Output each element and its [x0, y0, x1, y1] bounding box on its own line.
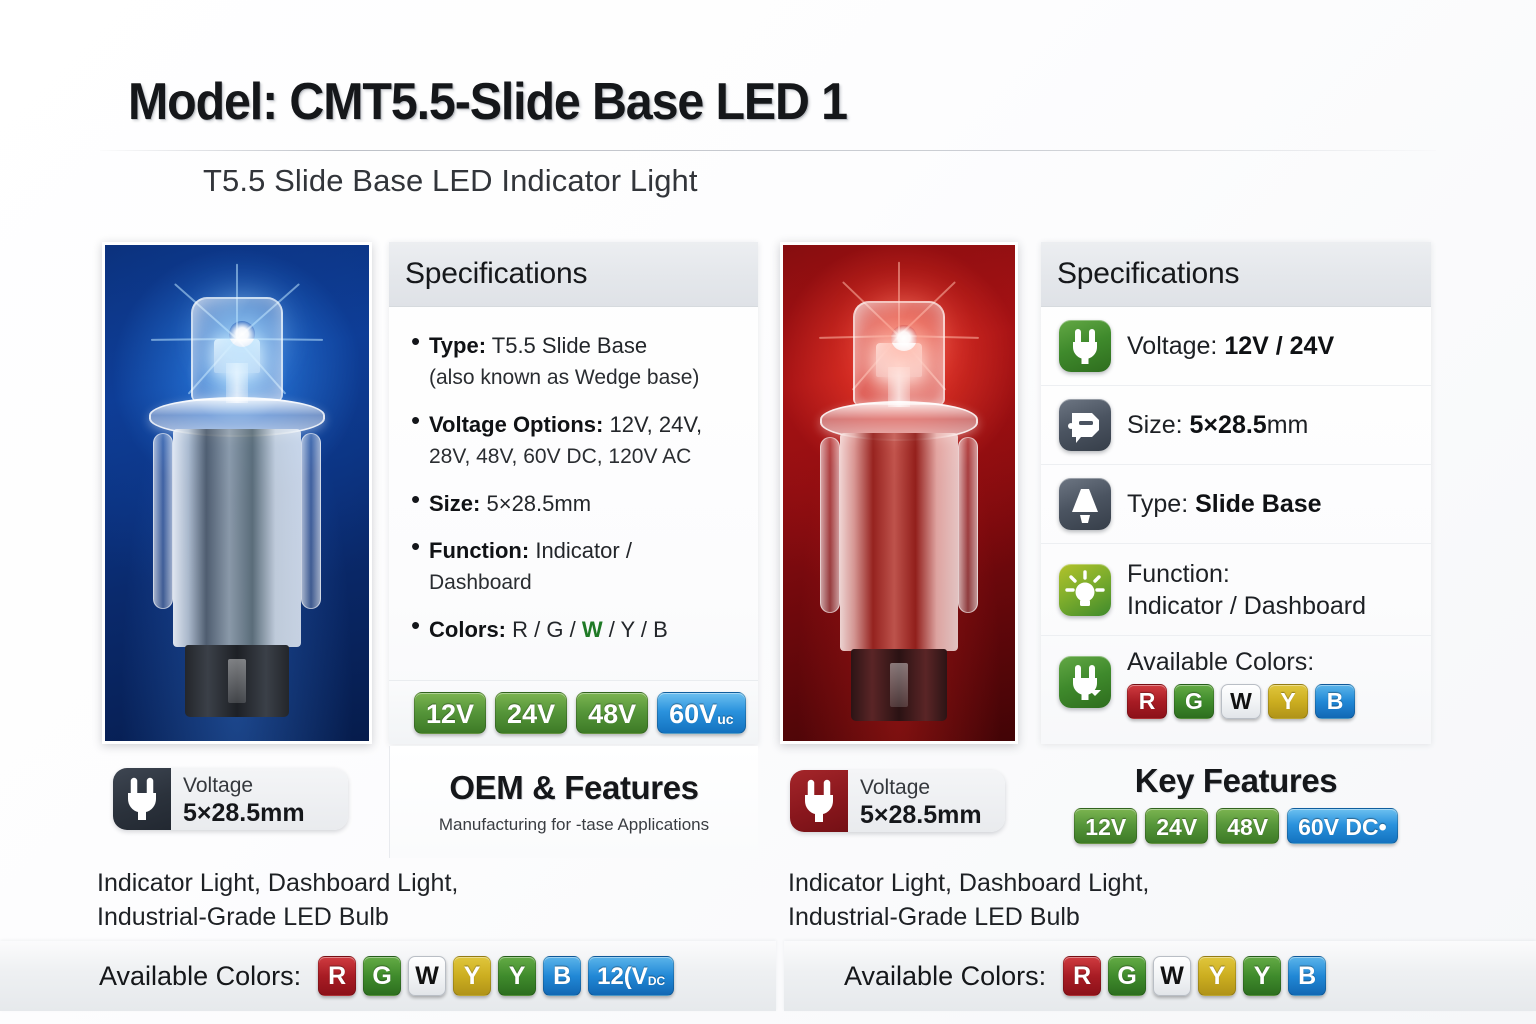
spec-row-type-label: Type:: [1127, 490, 1195, 518]
voltage-badge-60v-sub: uc: [717, 698, 733, 740]
bottom-voltage-badge-text: 12(V: [597, 957, 648, 997]
spec-row-type: Type: Slide Base: [1041, 465, 1431, 544]
color-chip-w-letter: W: [1230, 688, 1252, 715]
key-badge-48v[interactable]: 48V: [1216, 808, 1279, 844]
bottom-color-chip-w[interactable]: W: [408, 956, 446, 996]
bulb-dome: [853, 301, 945, 405]
key-badge-24v-text: 24V: [1156, 809, 1197, 845]
spec-colors-pre: R / G /: [512, 617, 582, 642]
bottom-voltage-badge-sub: DC: [648, 961, 665, 1001]
spec-row-size: Size: 5×28.5mm: [1041, 386, 1431, 465]
spec-subtext-function: Dashboard: [429, 567, 744, 599]
spec-value-voltage-options: 12V, 24V,: [610, 412, 703, 437]
spec-row-size-unit: mm: [1267, 411, 1309, 439]
left-voltage-badge-strip: 12V 24V 48V 60Vuc: [389, 680, 758, 744]
bottom-color-chip-b-letter: B: [1298, 962, 1316, 991]
right-caption-line2: Industrial-Grade LED Bulb: [788, 900, 1149, 934]
plug-icon: [113, 768, 171, 830]
bulb-assembly: [820, 301, 978, 721]
spec-bullet-type: Type: T5.5 Slide Base (also known as Wed…: [411, 329, 744, 394]
key-badge-24v[interactable]: 24V: [1145, 808, 1208, 844]
spec-label-voltage-options: Voltage Options:: [429, 412, 603, 437]
right-voltage-pill[interactable]: Voltage 5×28.5mm: [790, 770, 1005, 832]
right-spec-heading-text: Specifications: [1057, 257, 1239, 291]
lamp-icon: [1059, 478, 1111, 530]
spec-row-size-value: 5×28.5: [1190, 411, 1267, 439]
voltage-badge-24v[interactable]: 24V: [495, 692, 567, 734]
left-available-colors-bar: Available Colors: R G W Y Y B 12(VDC: [0, 941, 776, 1011]
bottom-color-chip-r[interactable]: R: [1063, 956, 1101, 996]
bottom-color-chip-r-letter: R: [328, 962, 346, 991]
key-badge-60v-dc[interactable]: 60V DC•: [1287, 808, 1398, 844]
bulb-body: [840, 433, 958, 651]
bottom-color-chip-g[interactable]: G: [1108, 956, 1146, 996]
spec-row-size-label: Size:: [1127, 411, 1190, 439]
spec-colors-highlight: W: [582, 617, 603, 642]
bottom-color-chip-r[interactable]: R: [318, 956, 356, 996]
size-tag-icon: [1059, 399, 1111, 451]
color-chip-w[interactable]: W: [1221, 684, 1261, 719]
voltage-badge-48v[interactable]: 48V: [576, 692, 648, 734]
bottom-color-chip-y-gold-letter: Y: [1209, 962, 1226, 991]
page-subtitle: T5.5 Slide Base LED Indicator Light: [203, 163, 698, 199]
spec-label-size: Size:: [429, 491, 480, 516]
bulb-rail-right: [301, 433, 321, 609]
spec-row-voltage-value: 12V / 24V: [1224, 332, 1334, 360]
left-spec-list: Type: T5.5 Slide Base (also known as Wed…: [389, 307, 758, 646]
available-colors-label: Available Colors:: [1127, 646, 1355, 678]
plug-icon: [790, 770, 848, 832]
spec-row-voltage: Voltage: 12V / 24V: [1041, 307, 1431, 386]
bulb-base-notch: [890, 663, 908, 707]
bulb-rail-left: [153, 433, 173, 609]
voltage-badge-60v-text: 60V: [669, 693, 717, 735]
spec-row-function: Function: Indicator / Dashboard: [1041, 544, 1431, 636]
bottom-voltage-badge[interactable]: 12(VDC: [588, 956, 674, 996]
lightbulb-icon: [1059, 564, 1111, 616]
bottom-color-chip-y-green[interactable]: Y: [498, 956, 536, 996]
spec-row-size-text: Size: 5×28.5mm: [1127, 409, 1308, 441]
plug-icon: [1059, 656, 1111, 708]
spec-row-function-value: Indicator / Dashboard: [1127, 590, 1366, 622]
blue-led-bulb-photo: [102, 242, 372, 744]
page-title: Model: CMT5.5-Slide Base LED 1: [128, 72, 847, 132]
voltage-badge-48v-text: 48V: [588, 693, 636, 735]
bottom-color-chip-g[interactable]: G: [363, 956, 401, 996]
color-chip-r[interactable]: R: [1127, 684, 1167, 719]
spec-bullet-size: Size: 5×28.5mm: [411, 487, 744, 520]
right-specifications-panel: Specifications Voltage: 12V / 24V Size: …: [1041, 242, 1431, 744]
left-specifications-panel: Specifications Type: T5.5 Slide Base (al…: [389, 242, 758, 744]
spec-bullet-voltage-options: Voltage Options: 12V, 24V, 28V, 48V, 60V…: [411, 408, 744, 473]
oem-subtitle: Manufacturing for -tase Applications: [439, 815, 709, 835]
spec-subtext-type: (also known as Wedge base): [429, 362, 744, 394]
key-features-block: Key Features 12V 24V 48V 60V DC•: [1041, 748, 1431, 858]
available-colors-group: Available Colors: R G W Y B: [1127, 646, 1355, 719]
right-voltage-pill-line1: Voltage: [860, 775, 982, 801]
voltage-badge-12v[interactable]: 12V: [414, 692, 486, 734]
spec-row-function-text: Function: Indicator / Dashboard: [1127, 558, 1366, 622]
spec-row-voltage-label: Voltage:: [1127, 332, 1224, 360]
key-badge-12v-text: 12V: [1085, 809, 1126, 845]
bulb-base-foot: [185, 645, 289, 717]
bottom-color-chip-w[interactable]: W: [1153, 956, 1191, 996]
right-available-colors-bar: Available Colors: R G W Y Y B: [784, 941, 1536, 1011]
voltage-badge-60v[interactable]: 60Vuc: [657, 692, 745, 734]
bottom-color-chip-w-letter: W: [415, 962, 439, 991]
bulb-assembly: [149, 297, 325, 717]
left-caption-line2: Industrial-Grade LED Bulb: [97, 900, 458, 934]
key-features-title: Key Features: [1135, 762, 1337, 800]
key-badge-48v-text: 48V: [1227, 809, 1268, 845]
spec-bullet-colors: Colors: R / G / W / Y / B: [411, 613, 744, 646]
right-caption-line1: Indicator Light, Dashboard Light,: [788, 866, 1149, 900]
bottom-color-chip-b-letter: B: [553, 962, 571, 991]
voltage-badge-24v-text: 24V: [507, 693, 555, 735]
color-chip-y-letter: Y: [1280, 688, 1295, 715]
bottom-color-chip-g-letter: G: [1117, 962, 1136, 991]
color-chip-y[interactable]: Y: [1268, 684, 1308, 719]
spec-colors-post: / Y / B: [603, 617, 668, 642]
voltage-badge-12v-text: 12V: [426, 693, 474, 735]
spec-label-type: Type:: [429, 333, 486, 358]
bottom-color-chip-b[interactable]: B: [1288, 956, 1326, 996]
spec-value-function: Indicator /: [535, 538, 632, 563]
oem-title: OEM & Features: [449, 769, 698, 807]
bottom-color-chip-y-gold[interactable]: Y: [453, 956, 491, 996]
spec-subtext-voltage-options: 28V, 48V, 60V DC, 120V AC: [429, 441, 744, 473]
key-features-badge-list: 12V 24V 48V 60V DC•: [1074, 808, 1397, 844]
bulb-base-foot: [851, 649, 947, 721]
bulb-rail-right: [958, 437, 978, 613]
bottom-color-chip-y-green-letter: Y: [509, 962, 526, 991]
left-caption-line1: Indicator Light, Dashboard Light,: [97, 866, 458, 900]
key-badge-60v-dc-text: 60V DC•: [1298, 809, 1387, 845]
spec-row-voltage-text: Voltage: 12V / 24V: [1127, 330, 1334, 362]
bulb-base-notch: [228, 659, 246, 703]
spec-label-colors: Colors:: [429, 617, 506, 642]
spec-bullet-function: Function: Indicator / Dashboard: [411, 534, 744, 599]
bulb-rail-left: [820, 437, 840, 613]
spec-value-size: 5×28.5mm: [486, 491, 591, 516]
left-caption: Indicator Light, Dashboard Light, Indust…: [97, 866, 458, 934]
right-voltage-pill-line2: 5×28.5mm: [860, 801, 982, 830]
bulb-dome: [191, 297, 283, 401]
bottom-color-chip-y-gold-letter: Y: [464, 962, 481, 991]
bottom-color-chip-y-gold[interactable]: Y: [1198, 956, 1236, 996]
left-spec-heading-text: Specifications: [405, 257, 587, 291]
right-caption: Indicator Light, Dashboard Light, Indust…: [788, 866, 1149, 934]
bottom-color-chip-w-letter: W: [1160, 962, 1184, 991]
left-voltage-pill-line1: Voltage: [183, 773, 305, 799]
spec-row-type-value: Slide Base: [1195, 490, 1321, 518]
color-chip-r-letter: R: [1139, 688, 1156, 715]
right-voltage-pill-text: Voltage 5×28.5mm: [848, 770, 982, 832]
right-available-colors-label: Available Colors:: [844, 961, 1046, 992]
page-header: Model: CMT5.5-Slide Base LED 1 T5.5 Slid…: [0, 0, 1536, 222]
spec-row-type-text: Type: Slide Base: [1127, 488, 1322, 520]
oem-features-block: OEM & Features Manufacturing for -tase A…: [389, 746, 758, 858]
left-spec-header: Specifications: [389, 242, 758, 307]
left-available-colors-label: Available Colors:: [99, 961, 301, 992]
left-voltage-pill-line2: 5×28.5mm: [183, 799, 305, 828]
right-spec-header: Specifications: [1041, 242, 1431, 307]
color-chip-list: R G W Y B: [1127, 684, 1355, 719]
color-chip-g[interactable]: G: [1174, 684, 1214, 719]
plug-icon: [1059, 320, 1111, 372]
bottom-color-chip-b[interactable]: B: [543, 956, 581, 996]
bulb-body: [173, 429, 301, 647]
color-chip-b[interactable]: B: [1315, 684, 1355, 719]
spec-label-function: Function:: [429, 538, 529, 563]
bottom-color-chip-y-green-letter: Y: [1254, 962, 1271, 991]
left-voltage-pill[interactable]: Voltage 5×28.5mm: [113, 768, 348, 830]
header-divider: [100, 150, 1436, 151]
key-badge-12v[interactable]: 12V: [1074, 808, 1137, 844]
bottom-color-chip-g-letter: G: [372, 962, 391, 991]
left-voltage-pill-text: Voltage 5×28.5mm: [171, 768, 305, 830]
bottom-color-chip-r-letter: R: [1073, 962, 1091, 991]
spec-row-function-label: Function:: [1127, 558, 1366, 590]
red-led-bulb-photo: [780, 242, 1018, 744]
spec-value-type: T5.5 Slide Base: [492, 333, 647, 358]
color-chip-b-letter: B: [1327, 688, 1344, 715]
color-chip-g-letter: G: [1185, 688, 1203, 715]
spec-row-available-colors: Available Colors: R G W Y B: [1041, 636, 1431, 728]
bottom-color-chip-y-green[interactable]: Y: [1243, 956, 1281, 996]
